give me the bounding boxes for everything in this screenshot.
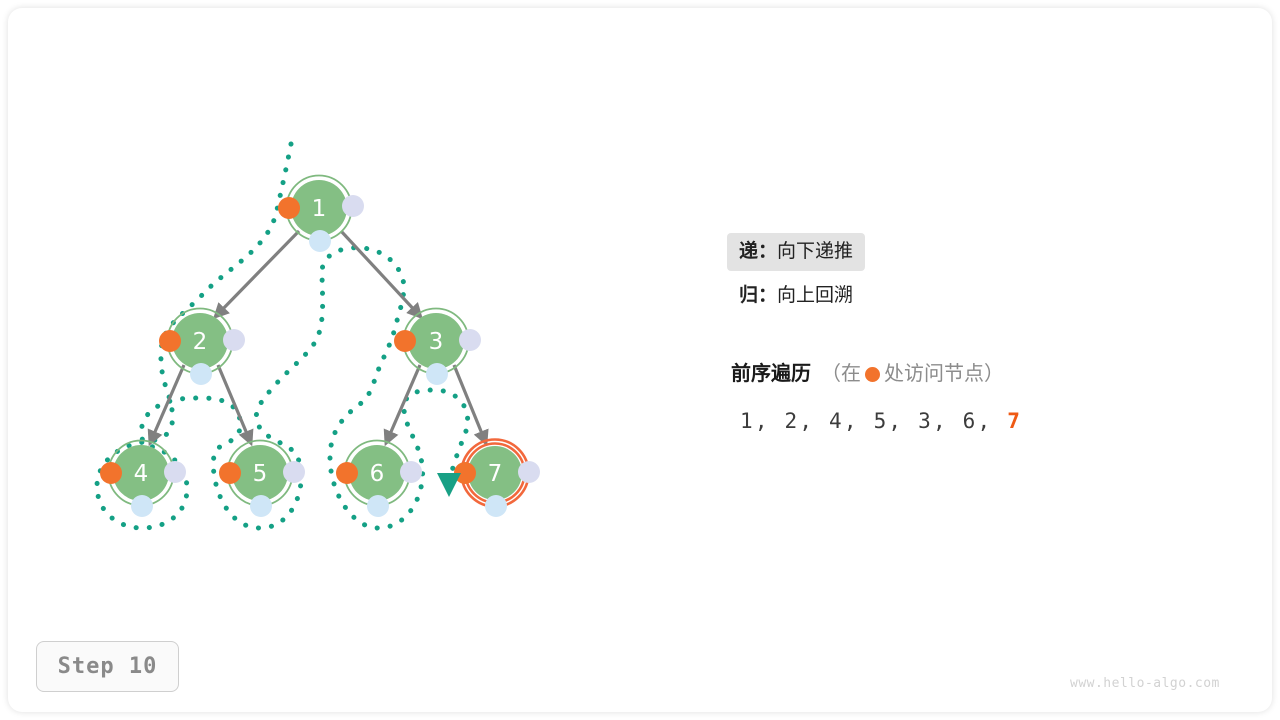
binary-tree-diagram: 1 2 3 xyxy=(0,0,1280,720)
watermark: www.hello-algo.com xyxy=(1070,676,1220,691)
traversal-sequence-current: 7 xyxy=(1007,409,1022,433)
node-value-1: 1 xyxy=(312,196,327,222)
traversal-sequence: 1, 2, 4, 5, 3, 6, 7 xyxy=(740,411,1022,432)
node-bottom-dot-1 xyxy=(309,230,331,252)
edge-1-3 xyxy=(341,231,419,315)
legend-return-key: 归： xyxy=(739,284,777,306)
node-bottom-dot-5 xyxy=(250,495,272,517)
legend-row-return: 归：向上回溯 xyxy=(727,277,1247,315)
node-right-dot-1 xyxy=(342,195,364,217)
node-visit-dot-4 xyxy=(100,462,122,484)
step-badge-label: Step 10 xyxy=(58,654,158,679)
node-visit-dot-1 xyxy=(278,197,300,219)
node-visit-dot-6 xyxy=(336,462,358,484)
node-value-4: 4 xyxy=(134,461,149,487)
edge-3-7 xyxy=(454,365,485,441)
legend-row-recurse: 递：向下递推 xyxy=(727,233,1247,271)
traversal-sequence-past: 1, 2, 4, 5, 3, 6, xyxy=(740,409,1007,433)
node-right-dot-2 xyxy=(223,329,245,351)
legend-recurse-key: 递： xyxy=(739,240,777,262)
node-bottom-dot-6 xyxy=(367,495,389,517)
edge-3-6 xyxy=(387,365,420,441)
node-value-7: 7 xyxy=(488,461,503,487)
tree-nodes: 1 2 3 xyxy=(100,176,540,518)
tree-node-3[interactable]: 3 xyxy=(394,309,481,386)
traversal-note-prefix: （在 xyxy=(821,361,861,385)
legend-panel: 递：向下递推 归：向上回溯 xyxy=(727,233,1247,315)
node-visit-dot-5 xyxy=(219,462,241,484)
current-node-pointer-icon xyxy=(437,473,461,497)
tree-node-4[interactable]: 4 xyxy=(100,441,186,518)
node-bottom-dot-2 xyxy=(190,363,212,385)
node-visit-dot-2 xyxy=(159,330,181,352)
node-right-dot-6 xyxy=(400,461,422,483)
screenshot-root: 1 2 3 xyxy=(0,0,1280,720)
legend-return-text: 向上回溯 xyxy=(777,284,853,306)
traversal-title: 前序遍历 xyxy=(731,361,811,385)
node-bottom-dot-4 xyxy=(131,495,153,517)
node-right-dot-7 xyxy=(518,461,540,483)
traversal-heading: 前序遍历（在处访问节点） xyxy=(731,363,1004,383)
node-bottom-dot-7 xyxy=(485,495,507,517)
tree-node-7[interactable]: 7 xyxy=(454,440,540,518)
node-value-2: 2 xyxy=(193,329,208,355)
tree-node-2[interactable]: 2 xyxy=(159,309,245,386)
node-value-6: 6 xyxy=(370,461,385,487)
node-value-3: 3 xyxy=(429,329,444,355)
node-right-dot-3 xyxy=(459,329,481,351)
node-right-dot-4 xyxy=(164,461,186,483)
legend-chip-recurse: 递：向下递推 xyxy=(727,233,865,271)
node-visit-dot-3 xyxy=(394,330,416,352)
legend-recurse-text: 向下递推 xyxy=(777,240,853,262)
traversal-note-suffix: 处访问节点） xyxy=(884,361,1004,385)
visit-dot-icon xyxy=(865,367,880,382)
node-right-dot-5 xyxy=(283,461,305,483)
node-bottom-dot-3 xyxy=(426,363,448,385)
node-value-5: 5 xyxy=(253,461,268,487)
step-badge: Step 10 xyxy=(36,641,179,692)
tree-node-5[interactable]: 5 xyxy=(219,441,305,518)
edge-2-4 xyxy=(151,365,184,441)
tree-node-6[interactable]: 6 xyxy=(336,441,422,518)
legend-chip-return: 归：向上回溯 xyxy=(727,277,865,315)
